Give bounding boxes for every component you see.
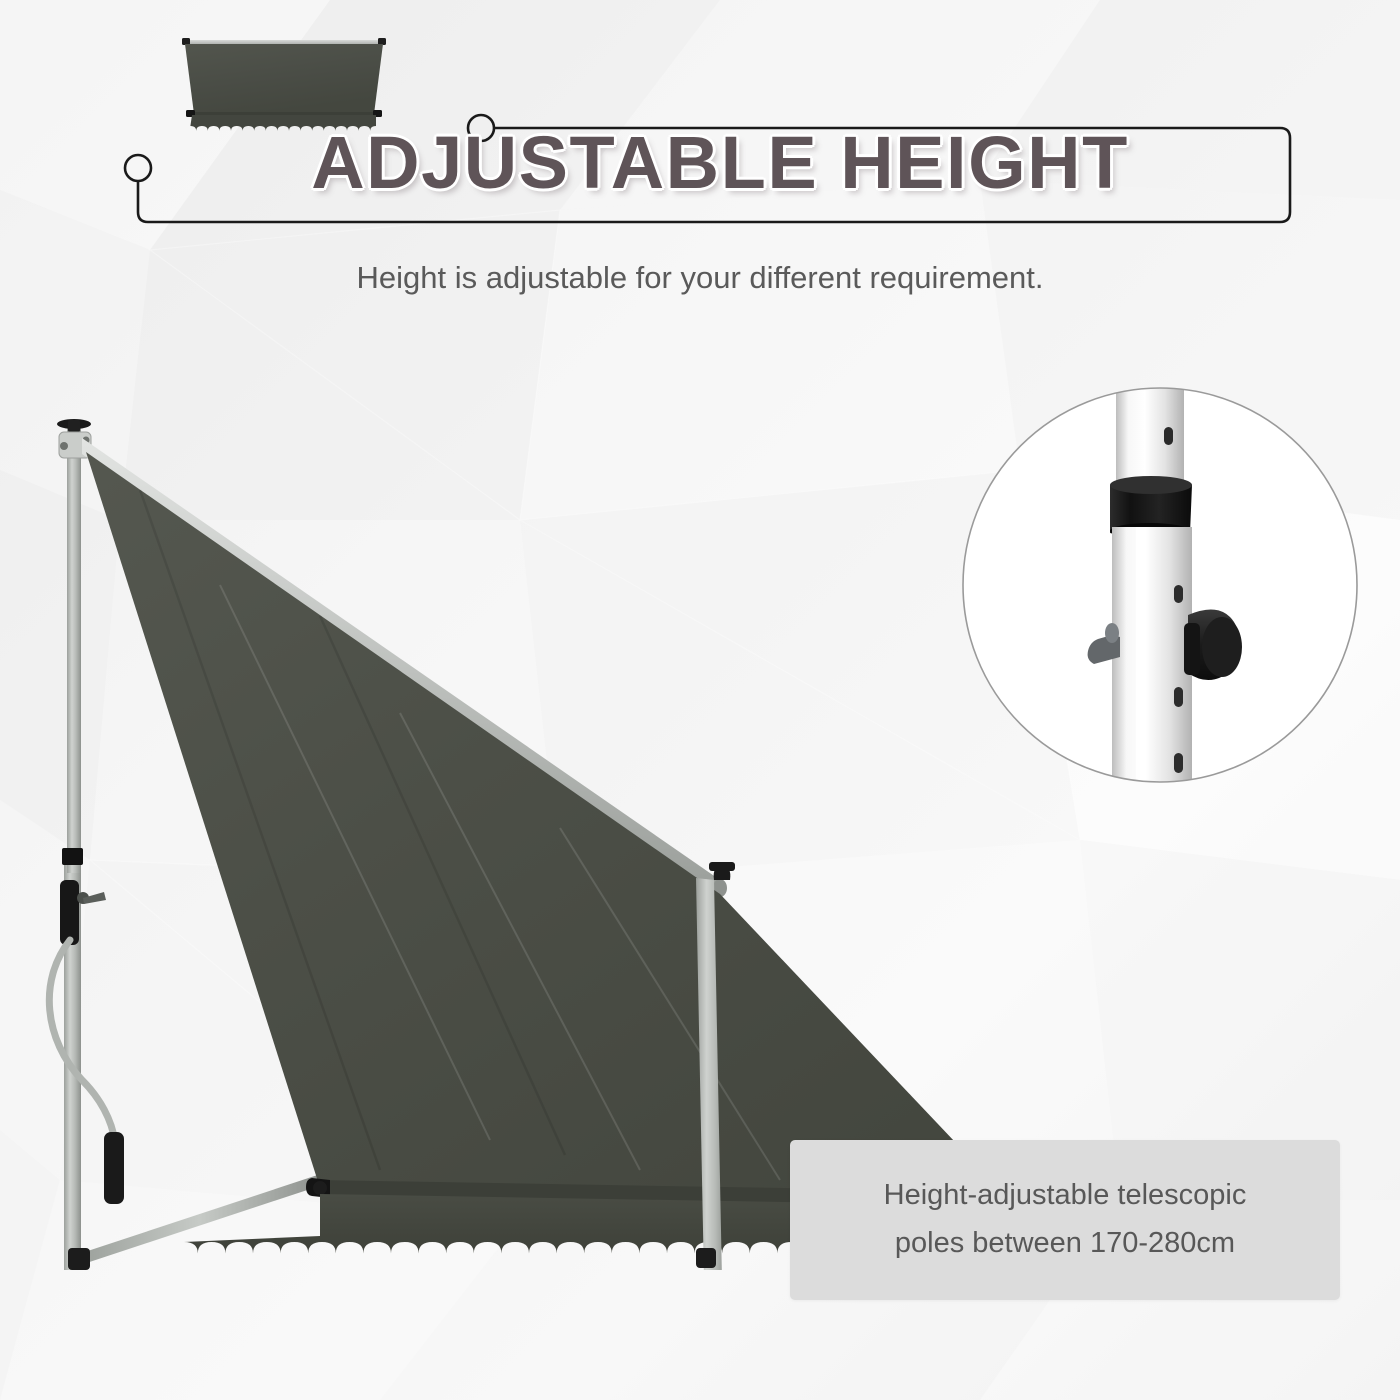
feature-banner-page: ADJUSTABLE HEIGHT Height is adjustable f… <box>0 0 1400 1400</box>
page-subtitle: Height is adjustable for your different … <box>0 260 1400 296</box>
caption-line-1: Height-adjustable telescopic <box>884 1172 1247 1220</box>
product-image-awning <box>20 380 980 1270</box>
telescopic-pole-closeup-inset <box>960 385 1360 785</box>
caption-line-2: poles between 170-280cm <box>895 1220 1235 1268</box>
feature-caption-box: Height-adjustable telescopic poles betwe… <box>790 1140 1340 1300</box>
page-title: ADJUSTABLE HEIGHT <box>180 126 1260 200</box>
